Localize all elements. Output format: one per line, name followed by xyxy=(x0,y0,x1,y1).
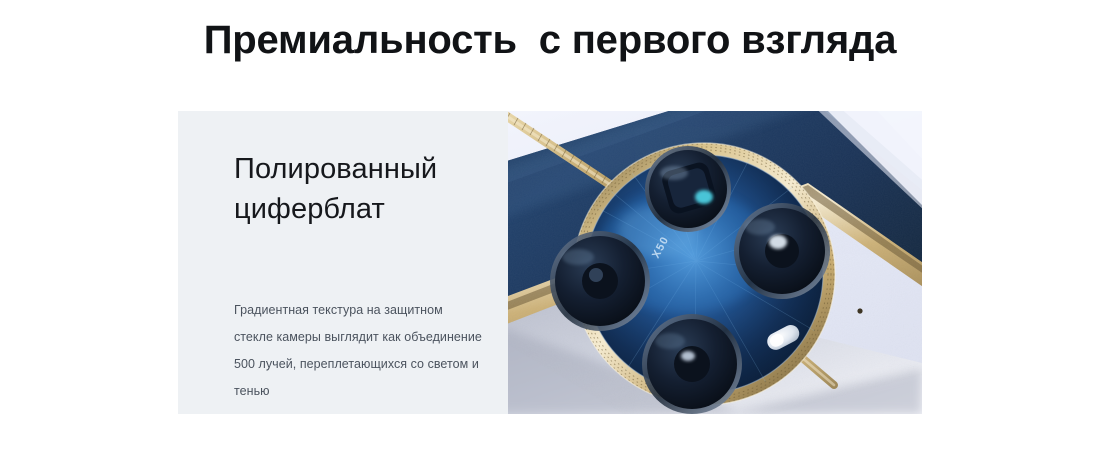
feature-photo: X50 xyxy=(508,111,922,414)
lens-top-glint xyxy=(695,190,713,204)
phone-camera-photo: X50 xyxy=(508,111,922,414)
feature-text-panel: Полированный циферблат Градиентная текст… xyxy=(178,111,508,414)
lens-left xyxy=(550,231,650,331)
page-title: Премиальность с первого взгляда xyxy=(0,18,1100,63)
microphone-hole xyxy=(857,308,862,313)
page-root: Премиальность с первого взгляда Полирова… xyxy=(0,0,1100,460)
lens-bottom-glint xyxy=(681,351,695,361)
feature-block: Полированный циферблат Градиентная текст… xyxy=(178,111,922,414)
feature-heading: Полированный циферблат xyxy=(234,149,484,229)
lens-top xyxy=(645,146,731,232)
feature-description: Градиентная текстура на защитном стекле … xyxy=(234,297,484,405)
lens-bottom xyxy=(642,314,742,414)
lens-right xyxy=(734,203,830,299)
lens-right-glint xyxy=(769,235,787,249)
